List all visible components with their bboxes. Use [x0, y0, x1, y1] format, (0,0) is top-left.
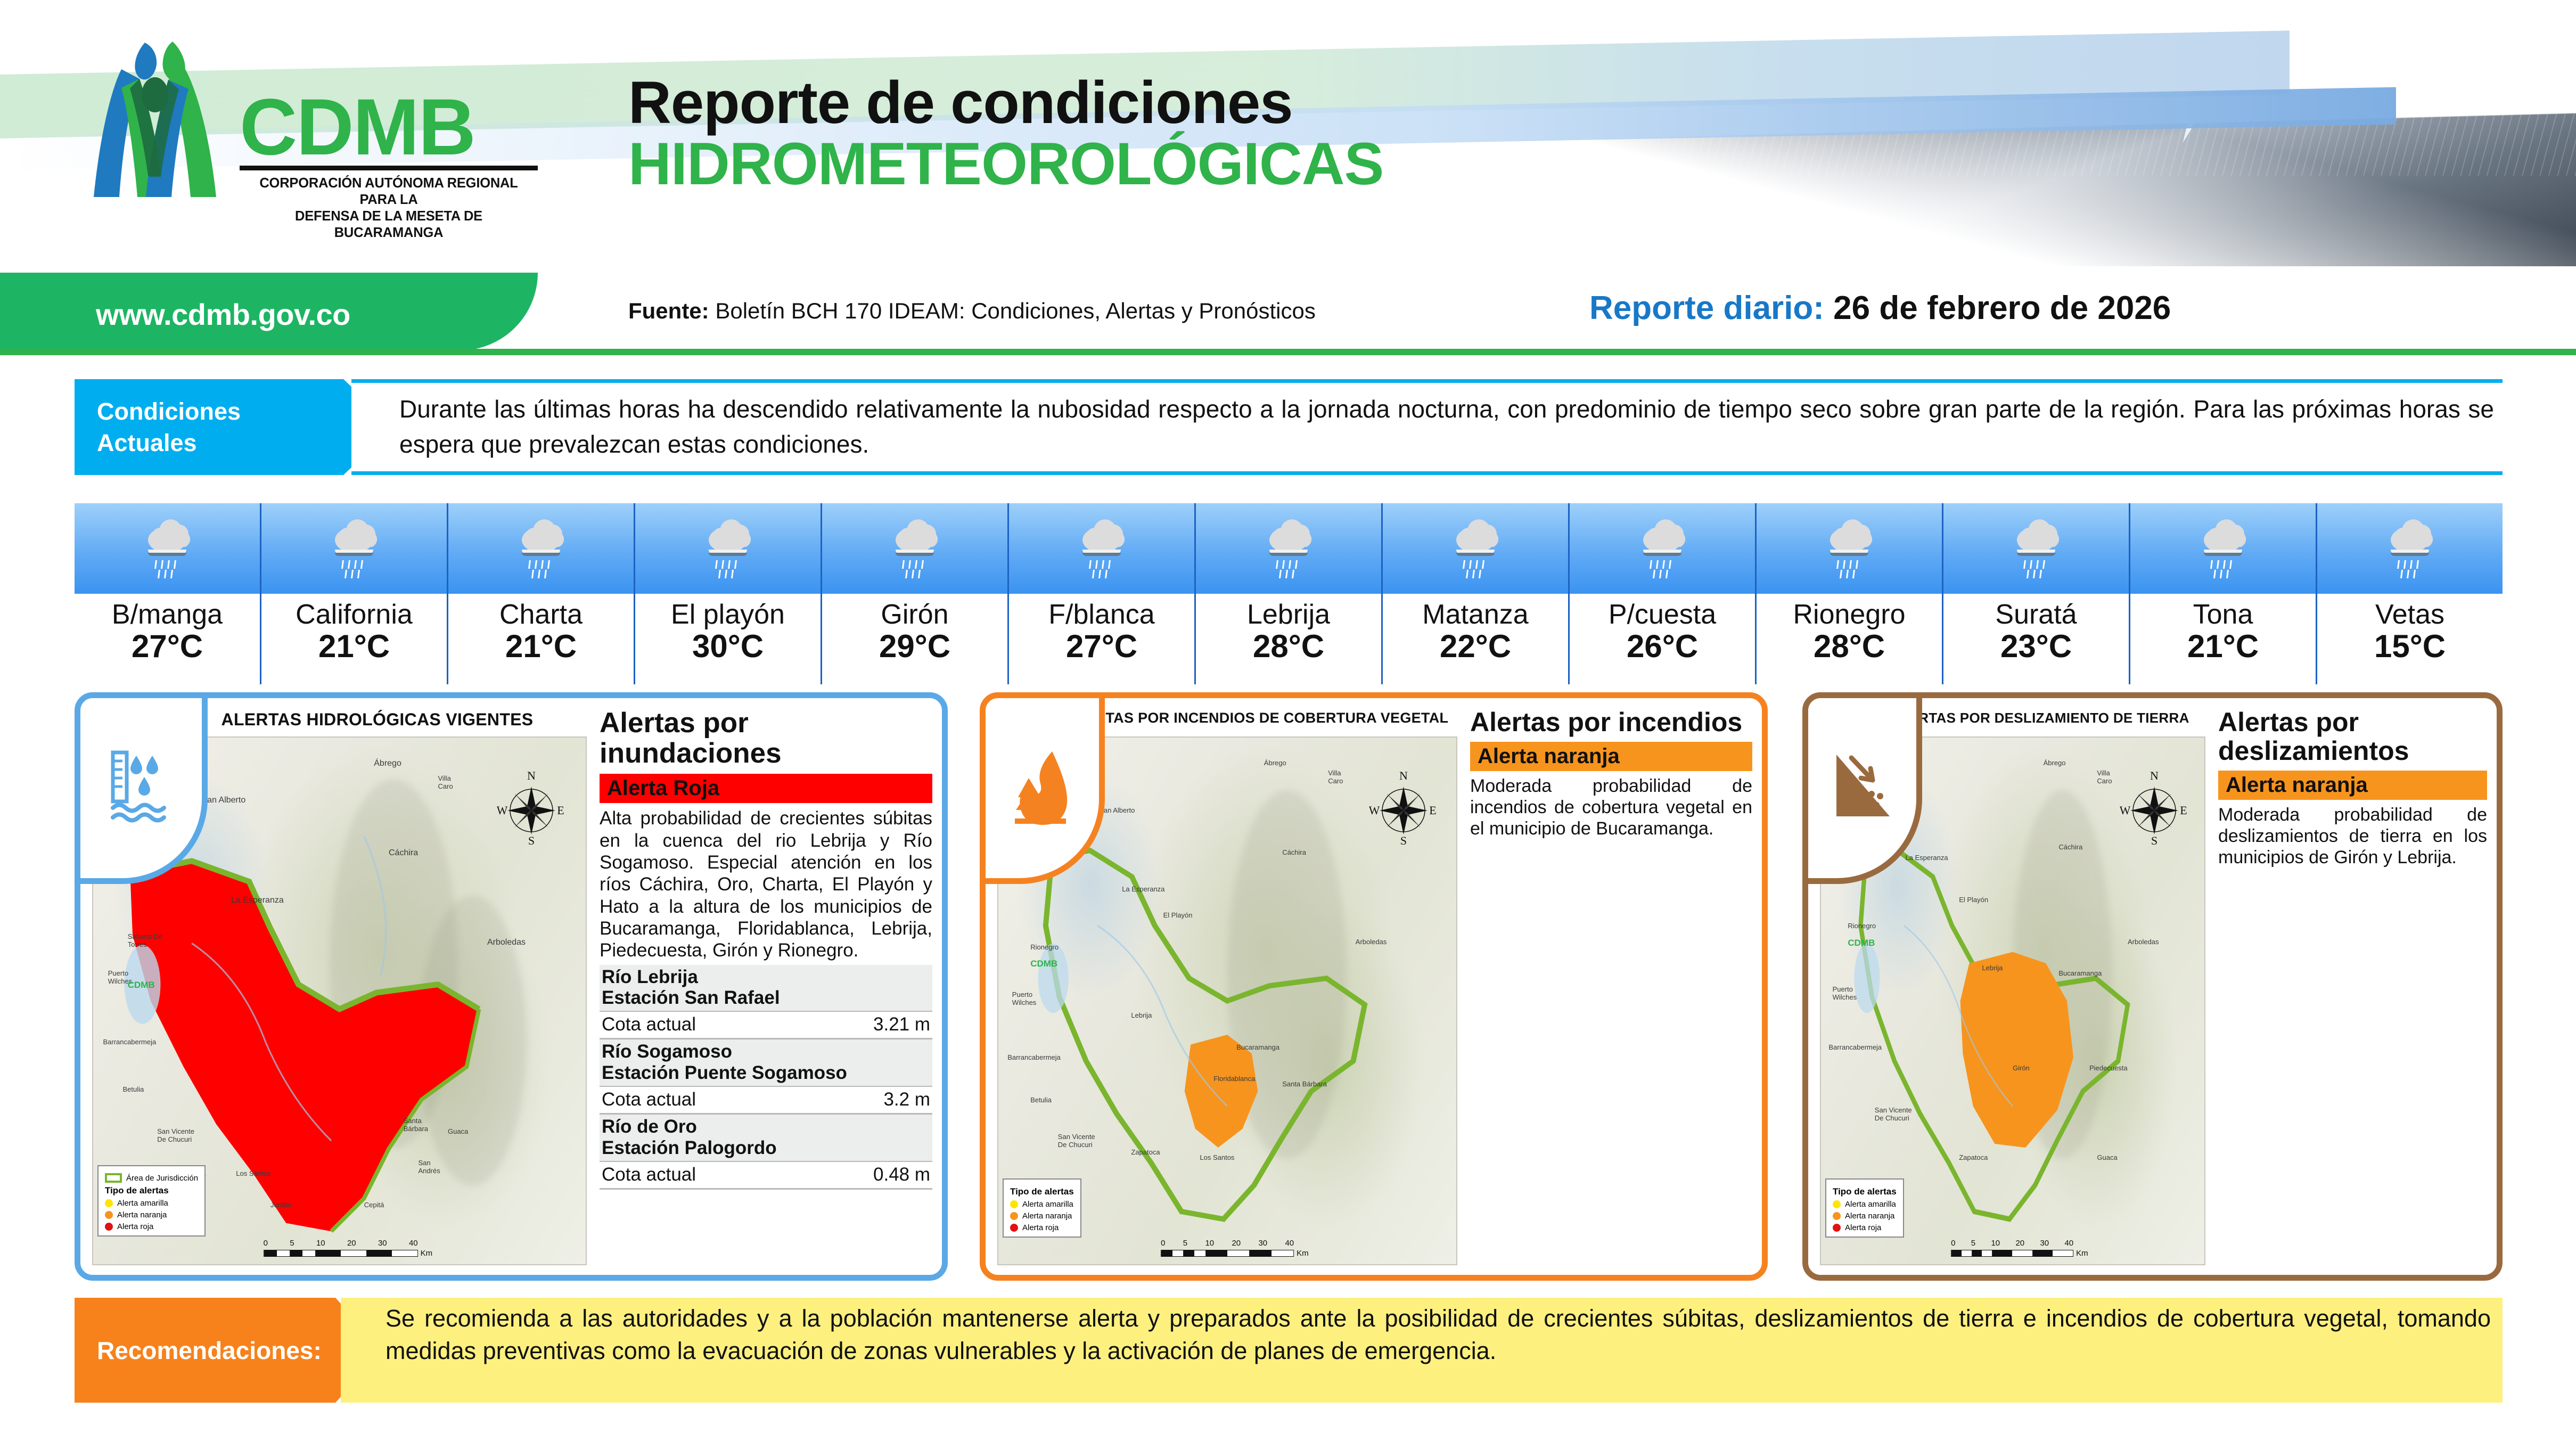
temperature-cell: Vetas15°C [2317, 503, 2503, 684]
scale-unit: Km [2076, 1249, 2088, 1258]
scale-unit: Km [421, 1249, 433, 1258]
map-label: San Alberto [202, 796, 246, 805]
river-cota-row: Cota actual3.2 m [600, 1087, 932, 1115]
title-line-1: Reporte de condiciones [628, 72, 1383, 133]
temperature-city: Tona [2130, 600, 2316, 629]
fire-description: Moderada probabilidad de incendios de co… [1470, 775, 1752, 839]
source-text: Boletín BCH 170 IDEAM: Condiciones, Aler… [715, 298, 1316, 323]
svg-text:N: N [527, 769, 536, 782]
map-label: VillaCaro [438, 774, 453, 790]
map-label: Betulia [123, 1085, 144, 1093]
map-label: PuertoWilches [1833, 985, 1857, 1001]
temperature-cell: Rionegro28°C [1757, 503, 1943, 684]
river-station-row: Río LebrijaEstación San RafaelCota actua… [600, 965, 932, 1040]
rain-cloud-icon [2004, 514, 2068, 583]
map-label: Lebrija [1982, 964, 2003, 972]
river-station-row: Río SogamosoEstación Puente SogamosoCota… [600, 1039, 932, 1115]
temperature-city: Rionegro [1757, 600, 1942, 629]
legend-title: Tipo de alertas [1833, 1186, 1897, 1197]
map-label: Zapatoca [1131, 1148, 1160, 1156]
logo-subtitle-line1: CORPORACIÓN AUTÓNOMA REGIONAL PARA LA [240, 175, 538, 208]
page-header: CDMB CORPORACIÓN AUTÓNOMA REGIONAL PARA … [0, 0, 2576, 266]
recommendations-text: Se recomienda a las autoridades y a la p… [385, 1302, 2491, 1367]
rain-cloud-icon [509, 514, 573, 583]
svg-text:S: S [2151, 834, 2157, 847]
map-label: La Esperanza [231, 896, 284, 905]
map-label: Piedecuesta [2089, 1064, 2128, 1072]
scale-tick: 40 [1285, 1239, 1294, 1248]
temperature-sky [635, 503, 821, 594]
legend-orange-dot [1010, 1212, 1018, 1220]
temperature-sky [448, 503, 634, 594]
legend-red-label: Alerta roja [1022, 1223, 1059, 1232]
rain-cloud-icon [1630, 514, 1694, 583]
scale-tick: 5 [290, 1239, 294, 1248]
cota-value: 3.21 m [873, 1014, 930, 1035]
map-label: Cepitá [364, 1201, 384, 1209]
fire-alert-level: Alerta naranja [1470, 742, 1752, 771]
map-label: SantaBárbara [404, 1117, 428, 1133]
temperature-cell: B/manga27°C [75, 503, 261, 684]
map-label: Barrancabermeja [1828, 1043, 1882, 1051]
river-stations-table: Río LebrijaEstación San RafaelCota actua… [600, 965, 932, 1190]
temperature-cell: Suratá23°C [1943, 503, 2130, 684]
svg-text:E: E [1429, 804, 1436, 817]
legend-yellow-dot [105, 1199, 113, 1207]
map-label: PuertoWilches [1012, 990, 1037, 1006]
landslide-alert-panel: ALERTAS POR DESLIZAMIENTO DE TIERRA San … [1802, 692, 2503, 1281]
map-watermark: CDMB [1030, 959, 1057, 969]
station-name: Estación Palogordo [602, 1137, 777, 1158]
legend-yellow-label: Alerta amarilla [1022, 1200, 1073, 1209]
legend-orange-label: Alerta naranja [117, 1210, 167, 1219]
landslide-map-legend: Tipo de alertas Alerta amarilla Alerta n… [1825, 1178, 1904, 1238]
scale-tick: 0 [1161, 1239, 1165, 1248]
svg-text:W: W [2120, 804, 2131, 817]
compass-rose-icon: N S W E [497, 769, 566, 849]
legend-yellow-dot [1010, 1200, 1018, 1208]
temperature-sky [2317, 503, 2503, 594]
scale-tick: 10 [1991, 1239, 2000, 1248]
map-label: Jordán [270, 1201, 292, 1209]
flood-heading: Alertas por inundaciones [600, 708, 932, 768]
recommendations-section: Recomendaciones: Se recomienda a las aut… [75, 1298, 2503, 1412]
temperature-value: 15°C [2317, 629, 2503, 664]
rain-cloud-icon [2191, 514, 2255, 583]
legend-orange-label: Alerta naranja [1022, 1211, 1072, 1221]
legend-title: Tipo de alertas [1010, 1186, 1074, 1197]
map-label: Guaca [2097, 1153, 2117, 1161]
current-conditions-tag: Condiciones Actuales [75, 379, 394, 475]
map-label: San VicenteDe Chucuri [1058, 1133, 1095, 1149]
current-conditions-section: Condiciones Actuales Durante las últimas… [75, 379, 2503, 483]
station-name: Estación San Rafael [602, 987, 780, 1008]
temperature-sky [822, 503, 1007, 594]
legend-yellow-dot [1833, 1200, 1841, 1208]
logo-acronym: CDMB [240, 93, 538, 161]
flood-map-legend: Área de Jurisdicción Tipo de alertas Ale… [97, 1165, 206, 1237]
map-label: Bucaramanga [2058, 969, 2102, 977]
fire-map-legend: Tipo de alertas Alerta amarilla Alerta n… [1003, 1178, 1081, 1238]
river-name: Río Sogamoso [602, 1041, 732, 1062]
temperature-value: 27°C [75, 629, 260, 664]
map-watermark: CDMB [128, 980, 155, 990]
temperature-sky [1196, 503, 1381, 594]
temperature-city: Girón [822, 600, 1007, 629]
map-label: Los Santos [1200, 1153, 1234, 1161]
cdmb-logo-mark-icon [80, 37, 234, 213]
temperature-sky [1383, 503, 1568, 594]
temperature-city: Lebrija [1196, 600, 1381, 629]
scale-tick: 5 [1183, 1239, 1187, 1248]
map-label: Cáchira [1282, 848, 1306, 856]
scale-tick: 30 [1258, 1239, 1267, 1248]
fire-info-column: Alertas por incendios Alerta naranja Mod… [1465, 698, 1762, 1275]
temperature-sky [1943, 503, 2129, 594]
temperature-sky [261, 503, 447, 594]
header-bottom-rule [0, 349, 2576, 355]
rain-cloud-icon [1817, 514, 1881, 583]
svg-text:N: N [1399, 769, 1408, 782]
scale-tick: 10 [316, 1239, 325, 1248]
legend-orange-label: Alerta naranja [1845, 1211, 1894, 1221]
map-label: El Playón [1959, 896, 1988, 904]
flood-description: Alta probabilidad de crecientes súbitas … [600, 807, 932, 961]
landslide-alert-level: Alerta naranja [2218, 771, 2487, 800]
svg-text:W: W [497, 804, 508, 817]
map-label: Lebrija [1131, 1011, 1152, 1019]
scale-tick: 5 [1971, 1239, 1975, 1248]
temperature-sky [1009, 503, 1194, 594]
river-cota-row: Cota actual3.21 m [600, 1012, 932, 1039]
recommendations-tag-label: Recomendaciones: [97, 1336, 322, 1365]
legend-red-dot [1010, 1224, 1018, 1232]
map-label: Bucaramanga [1236, 1043, 1279, 1051]
compass-rose-icon: N S W E [2120, 769, 2189, 849]
temperature-sky [1757, 503, 1942, 594]
legend-red-label: Alerta roja [117, 1222, 153, 1231]
map-label: Cáchira [389, 848, 418, 858]
temperature-sky [1570, 503, 1755, 594]
map-label: Ábrego [1264, 759, 1286, 767]
scale-unit: Km [1297, 1249, 1309, 1258]
temperature-sky [75, 503, 260, 594]
temperature-sky [2130, 503, 2316, 594]
map-label: Los Santos [236, 1169, 270, 1177]
scale-tick: 20 [2015, 1239, 2024, 1248]
svg-text:S: S [528, 834, 535, 847]
logo-subtitle-line2: DEFENSA DE LA MESETA DE BUCARAMANGA [240, 208, 538, 241]
temperature-city: P/cuesta [1570, 600, 1755, 629]
temperature-value: 29°C [822, 629, 1007, 664]
map-label: Zapatoca [1959, 1153, 1988, 1161]
fire-alert-panel: ALERTAS POR INCENDIOS DE COBERTURA VEGET… [980, 692, 1768, 1281]
svg-text:W: W [1369, 804, 1380, 817]
fire-forest-icon [1005, 748, 1080, 828]
map-label: Arboledas [2128, 938, 2159, 946]
flood-alert-panel: ALERTAS HIDROLÓGICAS VIGENTES San Martín… [75, 692, 948, 1281]
report-date-label: Reporte diario: [1589, 290, 1824, 326]
temperature-city: California [261, 600, 447, 629]
cota-value: 3.2 m [883, 1089, 930, 1110]
svg-text:N: N [2150, 769, 2159, 782]
landslide-info-column: Alertas por deslizamientos Alerta naranj… [2213, 698, 2497, 1275]
legend-red-label: Alerta roja [1845, 1223, 1881, 1232]
map-label: Barrancabermeja [1007, 1053, 1061, 1061]
legend-orange-dot [105, 1211, 113, 1219]
cota-value: 0.48 m [873, 1164, 930, 1185]
temperature-value: 21°C [2130, 629, 2316, 664]
map-label: VillaCaro [2097, 769, 2112, 785]
temperature-city: Charta [448, 600, 634, 629]
temperature-city: Vetas [2317, 600, 2503, 629]
temperature-cell: Charta21°C [448, 503, 635, 684]
rain-cloud-icon [1443, 514, 1507, 583]
map-label: San Alberto [1099, 806, 1135, 814]
map-label: San VicenteDe Chucuri [157, 1127, 194, 1143]
source-line: Fuente: Boletín BCH 170 IDEAM: Condicion… [628, 298, 1316, 324]
landslide-description: Moderada probabilidad de deslizamientos … [2218, 804, 2487, 868]
flood-alert-level: Alerta Roja [600, 774, 932, 803]
scale-tick: 0 [1951, 1239, 1955, 1248]
river-station-row: Río de OroEstación PalogordoCota actual0… [600, 1115, 932, 1190]
water-level-icon [105, 748, 177, 828]
current-conditions-body: Durante las últimas horas ha descendido … [351, 379, 2503, 475]
report-date-line: Reporte diario: 26 de febrero de 2026 [1589, 289, 2171, 327]
temperature-city: B/manga [75, 600, 260, 629]
map-label: Sabana DeTorres [128, 932, 162, 948]
legend-yellow-label: Alerta amarilla [117, 1199, 168, 1208]
svg-text:E: E [2180, 804, 2187, 817]
temperature-cell: P/cuesta26°C [1570, 503, 1757, 684]
map-label: Santa Bárbara [1282, 1080, 1327, 1088]
map-label: El Playón [1163, 911, 1193, 919]
source-label: Fuente: [628, 298, 709, 323]
scale-tick: 20 [347, 1239, 356, 1248]
map-label: Ábrego [374, 759, 401, 768]
current-conditions-text: Durante las últimas horas ha descendido … [399, 391, 2494, 462]
map-label: SanAndrés [419, 1159, 440, 1175]
temperature-cell: Matanza22°C [1383, 503, 1570, 684]
compass-rose-icon: N S W E [1369, 769, 1438, 849]
legend-red-dot [105, 1223, 113, 1231]
map-label: Ábrego [2044, 759, 2066, 767]
map-label: Cáchira [2058, 843, 2082, 851]
map-label: VillaCaro [1328, 769, 1343, 785]
scale-tick: 30 [378, 1239, 387, 1248]
map-label: Girón [2013, 1064, 2030, 1072]
landslide-map-scalebar: 0 5 10 20 30 40 Km [1951, 1239, 2088, 1258]
map-label: Betulia [1030, 1096, 1052, 1104]
conditions-tag-line1: Condiciones [97, 396, 394, 427]
temperature-cell: Tona21°C [2130, 503, 2317, 684]
legend-title: Tipo de alertas [105, 1185, 198, 1196]
svg-text:S: S [1400, 834, 1406, 847]
cota-label: Cota actual [602, 1164, 696, 1185]
rain-cloud-icon [2378, 514, 2442, 583]
temperature-city: Matanza [1383, 600, 1568, 629]
landslide-heading: Alertas por deslizamientos [2218, 708, 2487, 765]
temperature-value: 30°C [635, 629, 821, 664]
temperature-value: 28°C [1757, 629, 1942, 664]
temperature-city: Suratá [1943, 600, 2129, 629]
website-url[interactable]: www.cdmb.gov.co [96, 297, 350, 332]
fire-map-scalebar: 0 5 10 20 30 40 Km [1161, 1239, 1309, 1258]
report-date-value: 26 de febrero de 2026 [1833, 290, 2171, 326]
station-name: Estación Puente Sogamoso [602, 1062, 847, 1083]
legend-jurisdiction-label: Área de Jurisdicción [126, 1174, 198, 1183]
map-label: Rionegro [1030, 943, 1059, 951]
svg-text:E: E [557, 804, 564, 817]
alert-panels: ALERTAS HIDROLÓGICAS VIGENTES San Martín… [75, 692, 2503, 1289]
title-line-2: HIDROMETEOROLÓGICAS [628, 133, 1383, 194]
legend-yellow-label: Alerta amarilla [1845, 1200, 1896, 1209]
legend-orange-dot [1833, 1212, 1841, 1220]
legend-red-dot [1833, 1224, 1841, 1232]
map-label: Barrancabermeja [103, 1038, 157, 1046]
temperature-cell: El playón30°C [635, 503, 822, 684]
legend-jurisdiction-swatch [105, 1173, 122, 1183]
temperature-cell: Girón29°C [822, 503, 1009, 684]
cota-label: Cota actual [602, 1089, 696, 1110]
scale-tick: 40 [409, 1239, 418, 1248]
temperature-city: El playón [635, 600, 821, 629]
flood-map-scalebar: 0 5 10 20 30 40 Km [264, 1239, 433, 1258]
rain-cloud-icon [1070, 514, 1134, 583]
scale-tick: 40 [2064, 1239, 2073, 1248]
temperature-value: 21°C [261, 629, 447, 664]
map-label: Rionegro [1848, 922, 1876, 930]
rain-cloud-icon [696, 514, 760, 583]
map-label: Guaca [448, 1127, 468, 1135]
flood-info-column: Alertas por inundaciones Alerta Roja Alt… [594, 698, 942, 1275]
temperature-value: 26°C [1570, 629, 1755, 664]
cdmb-logo: CDMB CORPORACIÓN AUTÓNOMA REGIONAL PARA … [80, 37, 548, 213]
map-label: La Esperanza [1122, 885, 1164, 893]
river-name: Río de Oro [602, 1116, 697, 1137]
map-label: San VicenteDe Chucuri [1875, 1106, 1912, 1122]
temperature-cell: F/blanca27°C [1009, 503, 1196, 684]
map-label: Floridablanca [1213, 1075, 1255, 1083]
map-watermark: CDMB [1848, 938, 1875, 948]
landslide-icon [1828, 748, 1897, 828]
scale-tick: 0 [264, 1239, 268, 1248]
river-station-name: Río LebrijaEstación San Rafael [600, 965, 932, 1012]
landslide-map[interactable]: ALERTAS POR DESLIZAMIENTO DE TIERRA San … [1808, 698, 2213, 1275]
temperature-cell: California21°C [261, 503, 448, 684]
recommendations-body: Se recomienda a las autoridades y a la p… [341, 1298, 2503, 1403]
river-name: Río Lebrija [602, 967, 698, 987]
recommendations-tag: Recomendaciones: [75, 1298, 383, 1403]
scale-tick: 10 [1205, 1239, 1214, 1248]
fire-map[interactable]: ALERTAS POR INCENDIOS DE COBERTURA VEGET… [986, 698, 1465, 1275]
scale-tick: 20 [1232, 1239, 1241, 1248]
cota-label: Cota actual [602, 1014, 696, 1035]
page-title: Reporte de condiciones HIDROMETEOROLÓGIC… [628, 72, 1383, 195]
temperature-value: 21°C [448, 629, 634, 664]
rain-cloud-icon [883, 514, 947, 583]
map-label: Arboledas [1356, 938, 1387, 946]
temperature-value: 27°C [1009, 629, 1194, 664]
temperature-strip: B/manga27°C California21°C Charta21°C El… [75, 503, 2503, 684]
temperature-value: 28°C [1196, 629, 1381, 664]
flood-map[interactable]: ALERTAS HIDROLÓGICAS VIGENTES San Martín… [80, 698, 594, 1275]
temperature-value: 22°C [1383, 629, 1568, 664]
scale-tick: 30 [2040, 1239, 2049, 1248]
river-cota-row: Cota actual0.48 m [600, 1162, 932, 1190]
map-label: La Esperanza [1905, 854, 1948, 862]
rain-cloud-icon [135, 514, 199, 583]
fire-heading: Alertas por incendios [1470, 708, 1752, 736]
temperature-value: 23°C [1943, 629, 2129, 664]
temperature-city: F/blanca [1009, 600, 1194, 629]
rain-cloud-icon [322, 514, 386, 583]
conditions-tag-line2: Actuales [97, 427, 394, 459]
river-station-name: Río de OroEstación Palogordo [600, 1115, 932, 1162]
rain-cloud-icon [1257, 514, 1320, 583]
river-station-name: Río SogamosoEstación Puente Sogamoso [600, 1039, 932, 1087]
map-label: Arboledas [487, 938, 526, 947]
temperature-cell: Lebrija28°C [1196, 503, 1383, 684]
